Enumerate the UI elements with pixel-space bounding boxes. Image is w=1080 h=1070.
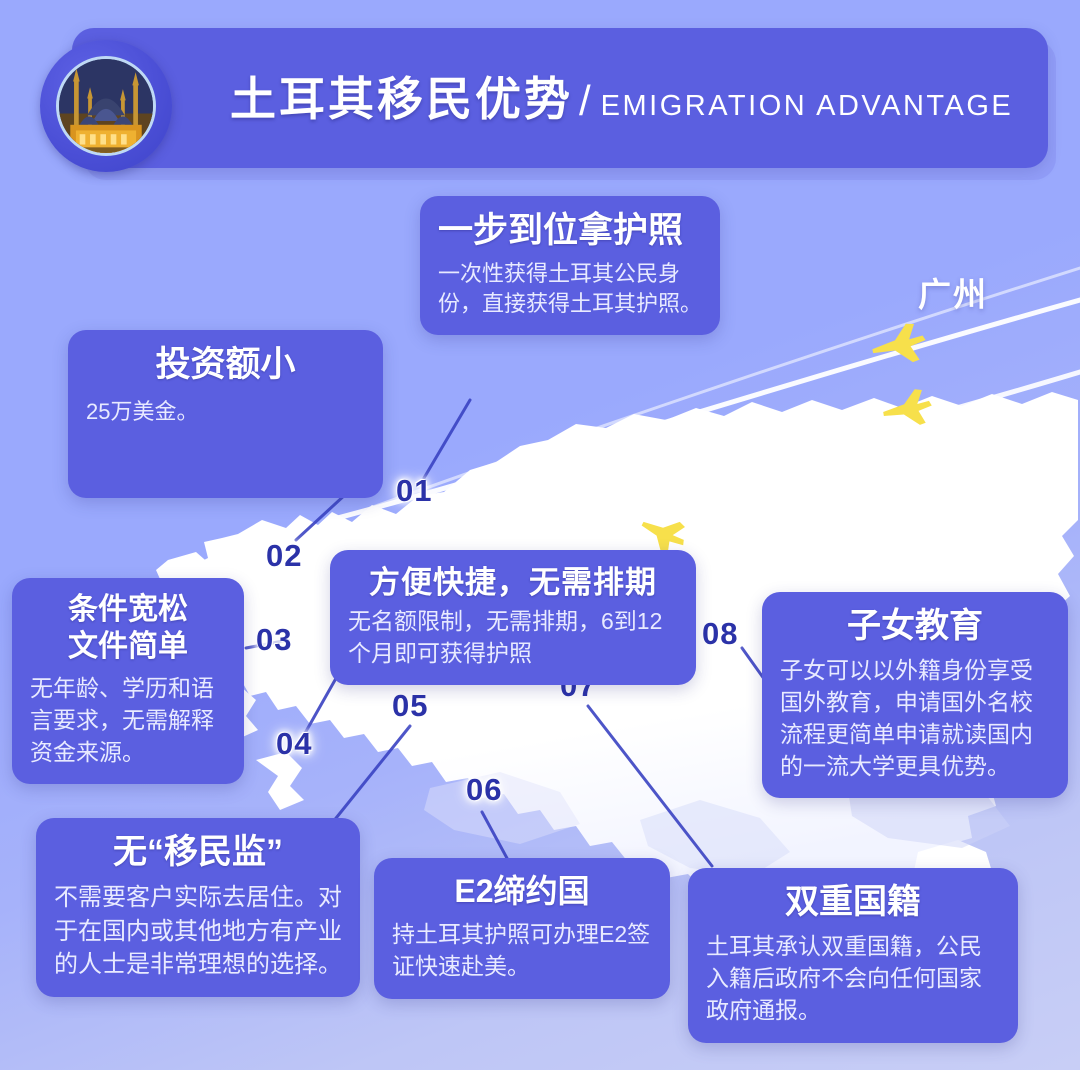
map-marker-05[interactable]: 05	[392, 688, 428, 724]
info-card-07[interactable]: 双重国籍 土耳其承认双重国籍，公民入籍后政府不会向任何国家政府通报。	[688, 868, 1018, 1043]
info-card-01-body: 一次性获得土耳其公民身份，直接获得土耳其护照。	[438, 259, 702, 320]
airplane-icon-1	[866, 322, 928, 368]
info-card-08-body: 子女可以以外籍身份享受国外教育，申请国外名校流程更简单申请就读国内的一流大学更具…	[780, 655, 1050, 782]
info-card-07-title: 双重国籍	[706, 882, 1000, 923]
info-card-03[interactable]: 条件宽松 文件简单 无年龄、学历和语言要求，无需解释资金来源。	[12, 578, 244, 784]
info-card-05-title: 无“移民监”	[54, 832, 342, 873]
info-card-03-body: 无年龄、学历和语言要求，无需解释资金来源。	[30, 673, 226, 768]
map-marker-02[interactable]: 02	[266, 538, 302, 574]
info-card-08-title: 子女教育	[780, 606, 1050, 647]
info-card-01[interactable]: 一步到位拿护照 一次性获得土耳其公民身份，直接获得土耳其护照。	[420, 196, 720, 335]
info-card-06[interactable]: E2缔约国 持土耳其护照可办理E2签证快速赴美。	[374, 858, 670, 999]
mosque-photo	[56, 56, 156, 156]
info-card-05-body: 不需要客户实际去居住。对于在国内或其他地方有产业的人士是非常理想的选择。	[54, 881, 342, 980]
info-card-03-title: 条件宽松 文件简单	[30, 592, 226, 665]
info-card-02[interactable]: 投资额小 25万美金。	[68, 330, 383, 498]
map-marker-01[interactable]: 01	[396, 473, 432, 509]
map-marker-06[interactable]: 06	[466, 772, 502, 808]
info-card-05[interactable]: 无“移民监” 不需要客户实际去居住。对于在国内或其他地方有产业的人士是非常理想的…	[36, 818, 360, 997]
info-card-04-title: 方便快捷，无需排期	[348, 564, 678, 602]
info-card-01-title: 一步到位拿护照	[438, 210, 702, 253]
info-card-02-title: 投资额小	[86, 344, 365, 387]
info-card-04-body: 无名额限制，无需排期，6到12个月即可获得护照	[348, 606, 678, 669]
title-chinese: 土耳其移民优势	[230, 63, 573, 129]
info-card-06-body: 持土耳其护照可办理E2签证快速赴美。	[392, 919, 652, 982]
info-card-08[interactable]: 子女教育 子女可以以外籍身份享受国外教育，申请国外名校流程更简单申请就读国内的一…	[762, 592, 1068, 798]
info-card-04[interactable]: 方便快捷，无需排期 无名额限制，无需排期，6到12个月即可获得护照	[330, 550, 696, 685]
airplane-icon-2	[878, 388, 934, 430]
map-marker-04[interactable]: 04	[276, 726, 312, 762]
page-title: 土耳其移民优势 / EMIGRATION ADVANTAGE	[230, 63, 1013, 129]
map-marker-03[interactable]: 03	[256, 622, 292, 658]
info-card-06-title: E2缔约国	[392, 872, 652, 911]
map-marker-08[interactable]: 08	[702, 616, 738, 652]
info-card-07-body: 土耳其承认双重国籍，公民入籍后政府不会向任何国家政府通报。	[706, 931, 1000, 1026]
city-label-guangzhou: 广州	[918, 268, 988, 316]
title-english: EMIGRATION ADVANTAGE	[601, 90, 1014, 123]
title-separator: /	[579, 77, 591, 125]
info-card-02-body: 25万美金。	[86, 397, 365, 427]
blue-mosque-logo	[40, 40, 172, 172]
